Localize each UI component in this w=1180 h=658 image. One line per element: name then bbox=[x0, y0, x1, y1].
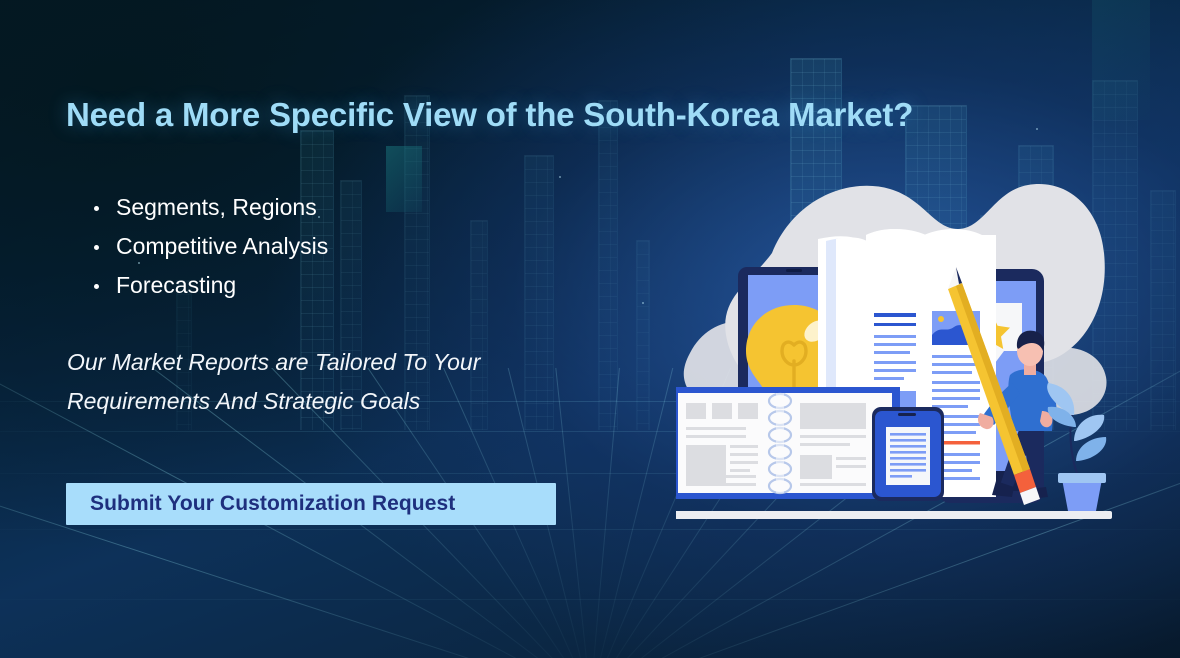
desk-surface bbox=[676, 511, 1112, 519]
list-item-label: Competitive Analysis bbox=[116, 233, 328, 259]
bullet-dot-icon bbox=[94, 284, 99, 289]
page-title: Need a More Specific View of the South-K… bbox=[66, 96, 913, 134]
spiral-notebook bbox=[676, 387, 900, 499]
bullet-dot-icon bbox=[94, 206, 99, 211]
list-item: Forecasting bbox=[90, 266, 328, 305]
list-item-label: Segments, Regions bbox=[116, 194, 317, 220]
list-item: Segments, Regions bbox=[90, 188, 328, 227]
submit-customization-request-label: Submit Your Customization Request bbox=[66, 492, 455, 516]
promo-banner: Need a More Specific View of the South-K… bbox=[0, 0, 1180, 658]
tagline: Our Market Reports are Tailored To Your … bbox=[67, 343, 627, 421]
smartphone-document bbox=[872, 407, 944, 501]
submit-customization-request-button[interactable]: Submit Your Customization Request bbox=[66, 483, 556, 525]
bullet-dot-icon bbox=[94, 245, 99, 250]
feature-list: Segments, Regions Competitive Analysis F… bbox=[90, 188, 328, 305]
market-research-illustration bbox=[676, 175, 1116, 523]
list-item-label: Forecasting bbox=[116, 272, 236, 298]
list-item: Competitive Analysis bbox=[90, 227, 328, 266]
